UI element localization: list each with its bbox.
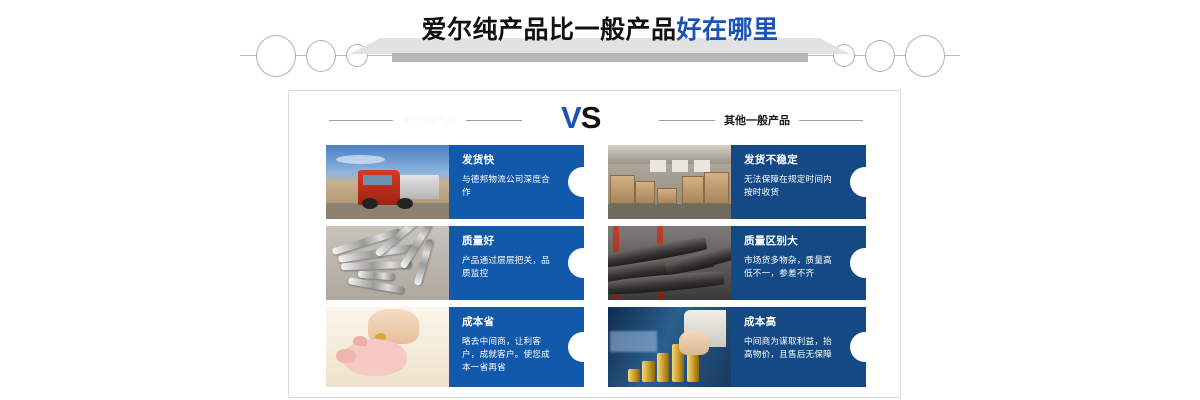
- vs-letter-s: S: [581, 100, 601, 135]
- page-title-main: 爱尔纯产品比一般产品: [421, 15, 676, 44]
- circle-notch-icon: [568, 332, 584, 362]
- comparison-header-row: 爱尔纯产品 VS 其他一般产品: [289, 100, 902, 140]
- circle-notch-icon: [850, 248, 866, 278]
- page-title-accent: 好在哪里: [677, 15, 779, 44]
- left-column-header: 爱尔纯产品: [329, 112, 522, 128]
- card-body: 成本高 中间商为谋取利益，抬高物价，且售后无保障: [731, 307, 866, 387]
- card-body: 发货快 与德邦物流公司深度合作: [449, 145, 584, 219]
- promo-comparison-page: 爱尔纯产品比一般产品好在哪里 爱尔纯产品 VS 其他一般产品: [0, 0, 1200, 400]
- circle-notch-icon: [568, 248, 584, 278]
- header-line-left-inner: [466, 120, 522, 121]
- right-column-header: 其他一般产品: [659, 112, 863, 128]
- title-banner: 爱尔纯产品比一般产品好在哪里: [0, 0, 1200, 84]
- card-description: 产品通过层层把关，品质监控: [462, 255, 558, 282]
- right-disadvantages-column: 发货不稳定 无法保障在规定时间内按时收货: [608, 145, 866, 394]
- left-advantages-column: 发货快 与德邦物流公司深度合作: [326, 145, 584, 394]
- truck-photo: [326, 145, 449, 219]
- cards-grid: 发货快 与德邦物流公司深度合作: [326, 145, 866, 389]
- right-column-header-label: 其他一般产品: [724, 112, 790, 128]
- card-description: 与德邦物流公司深度合作: [462, 174, 558, 201]
- comparison-frame: 爱尔纯产品 VS 其他一般产品: [288, 90, 901, 398]
- card-title: 质量区别大: [744, 235, 840, 248]
- circle-notch-icon: [850, 332, 866, 362]
- page-title: 爱尔纯产品比一般产品好在哪里: [0, 10, 1200, 46]
- warehouse-photo: [608, 145, 731, 219]
- card-body: 发货不稳定 无法保障在规定时间内按时收货: [731, 145, 866, 219]
- circle-notch-icon: [568, 167, 584, 197]
- piggy-bank-photo: [326, 307, 449, 387]
- card-title: 发货不稳定: [744, 154, 840, 167]
- card-body: 成本省 略去中间商，让利客户，成就客户。使您成本一省再省: [449, 307, 584, 387]
- card-description: 略去中间商，让利客户，成就客户。使您成本一省再省: [462, 336, 558, 376]
- pipes-photo: [608, 226, 731, 300]
- metal-tubes-photo: [326, 226, 449, 300]
- card-title: 成本高: [744, 316, 840, 329]
- list-item[interactable]: 质量区别大 市场货多物杂，质量高低不一，参差不齐: [608, 226, 866, 300]
- header-line-right-inner: [659, 120, 715, 121]
- gold-coins-photo: [608, 307, 731, 387]
- card-description: 市场货多物杂，质量高低不一，参差不齐: [744, 255, 840, 282]
- list-item[interactable]: 成本省 略去中间商，让利客户，成就客户。使您成本一省再省: [326, 307, 584, 387]
- card-description: 无法保障在规定时间内按时收货: [744, 174, 840, 201]
- list-item[interactable]: 发货不稳定 无法保障在规定时间内按时收货: [608, 145, 866, 219]
- card-title: 发货快: [462, 154, 558, 167]
- card-description: 中间商为谋取利益，抬高物价，且售后无保障: [744, 336, 840, 363]
- card-title: 成本省: [462, 316, 558, 329]
- card-title: 质量好: [462, 235, 558, 248]
- circle-notch-icon: [850, 167, 866, 197]
- list-item[interactable]: 质量好 产品通过层层把关，品质监控: [326, 226, 584, 300]
- list-item[interactable]: 发货快 与德邦物流公司深度合作: [326, 145, 584, 219]
- banner-plinth-shadow: [392, 53, 808, 62]
- vs-letter-v: V: [561, 100, 581, 135]
- header-line-right-outer: [799, 120, 863, 121]
- card-body: 质量区别大 市场货多物杂，质量高低不一，参差不齐: [731, 226, 866, 300]
- header-line-left-outer: [329, 120, 393, 121]
- list-item[interactable]: 成本高 中间商为谋取利益，抬高物价，且售后无保障: [608, 307, 866, 387]
- card-body: 质量好 产品通过层层把关，品质监控: [449, 226, 584, 300]
- vs-badge: VS: [561, 100, 600, 136]
- left-column-header-label: 爱尔纯产品: [402, 112, 457, 128]
